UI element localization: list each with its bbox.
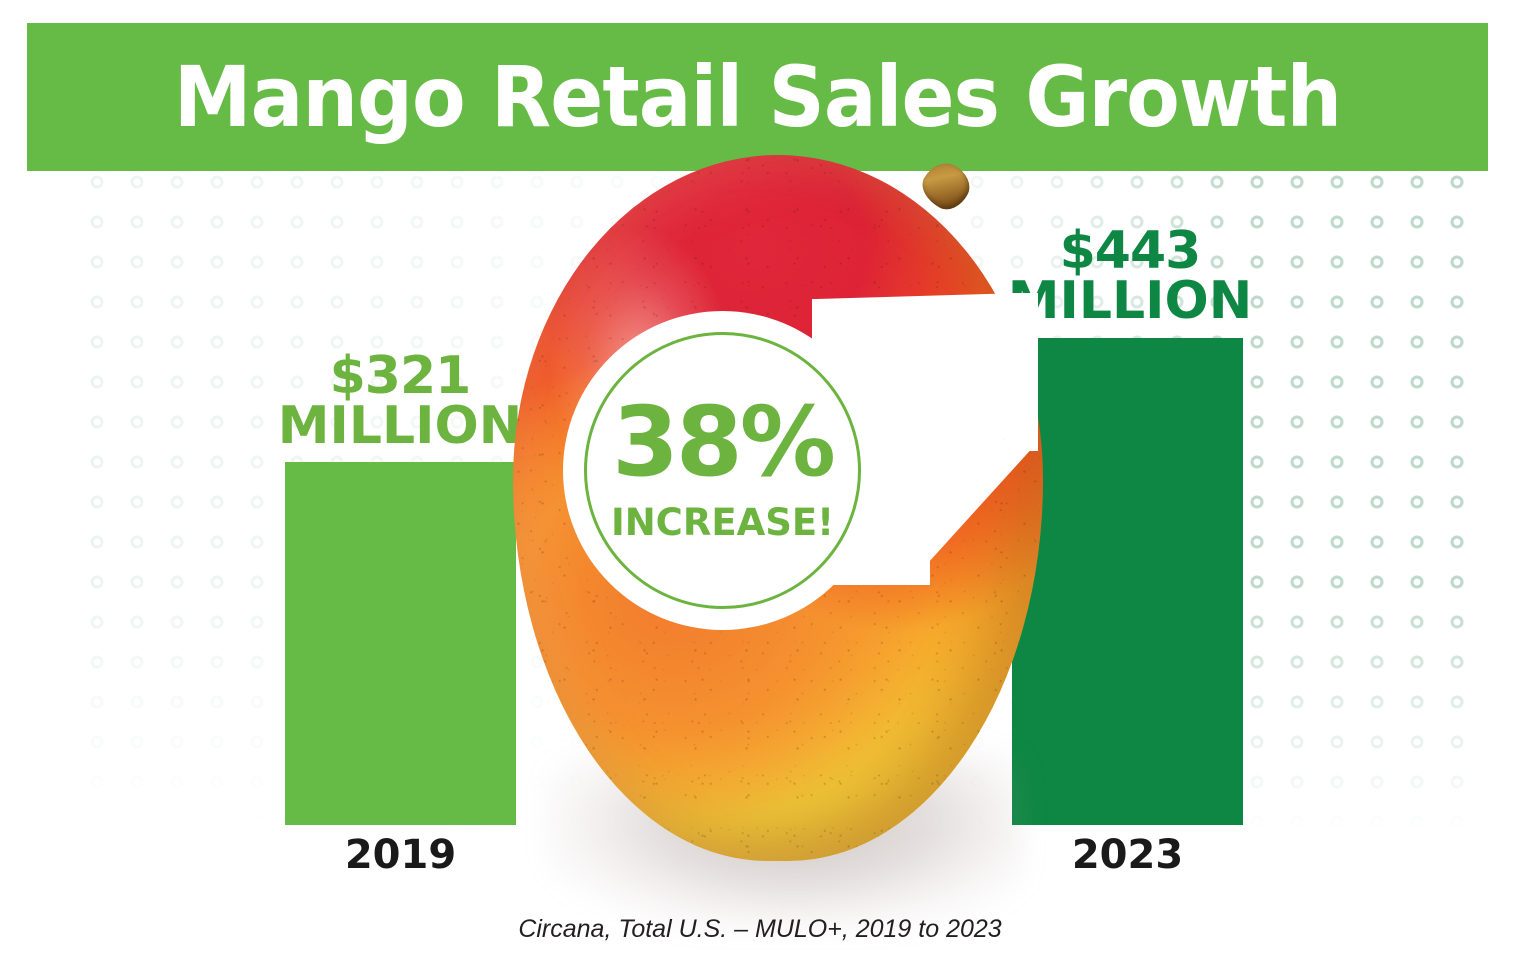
axis-label-2019: 2019 — [285, 832, 516, 878]
bar-2019 — [285, 462, 516, 825]
title-banner: Mango Retail Sales Growth — [27, 23, 1488, 171]
mango-stem — [915, 156, 976, 216]
page-title: Mango Retail Sales Growth — [78, 23, 1437, 171]
infographic-canvas: Mango Retail Sales Growth $321 MILLION $… — [0, 0, 1520, 955]
growth-badge-caption: INCREASE! — [611, 504, 834, 541]
axis-label-2023: 2023 — [1012, 832, 1243, 878]
source-note: Circana, Total U.S. – MULO+, 2019 to 202… — [0, 915, 1520, 944]
growth-badge-content: 38% INCREASE! — [570, 318, 875, 623]
growth-badge-percent: 38% — [612, 394, 833, 490]
